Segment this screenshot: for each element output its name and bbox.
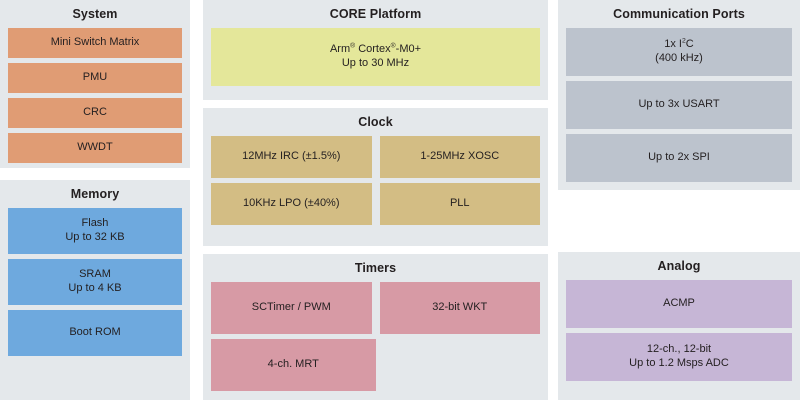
panel-memory: Memory Flash Up to 32 KB SRAM Up to 4 KB… — [0, 180, 190, 400]
i2c-suffix-text: C — [686, 38, 694, 50]
block-label: 10KHz LPO (±40%) — [243, 197, 340, 211]
i2c-prefix-text: 1x I — [664, 38, 682, 50]
block-label: PLL — [450, 197, 470, 211]
block-label: Flash Up to 32 KB — [65, 217, 124, 245]
block-label-line2: Up to 30 MHz — [342, 57, 409, 69]
block-sctimer-pwm[interactable]: SCTimer / PWM — [211, 282, 372, 334]
block-label: 1-25MHz XOSC — [420, 150, 499, 164]
block-crc[interactable]: CRC — [8, 98, 182, 128]
panel-title-memory: Memory — [0, 180, 190, 208]
block-label: 32-bit WKT — [432, 301, 487, 315]
block-label-line1: 12-ch., 12-bit — [647, 343, 711, 355]
block-label: SRAM Up to 4 KB — [68, 268, 121, 296]
panel-title-analog: Analog — [558, 252, 800, 280]
clock-row-1: 12MHz IRC (±1.5%) 1-25MHz XOSC — [211, 136, 540, 178]
panel-title-core-platform: CORE Platform — [203, 0, 548, 28]
panel-core-platform: CORE Platform Arm® Cortex®-M0+ Up to 30 … — [203, 0, 548, 100]
block-label: CRC — [83, 106, 107, 120]
block-label-line1: Flash — [82, 217, 109, 229]
panel-body-communication-ports: 1x I2C (400 kHz) Up to 3x USART Up to 2x… — [558, 28, 800, 190]
block-label: Up to 2x SPI — [648, 151, 710, 165]
block-label: PMU — [83, 71, 107, 85]
block-label-line2: Up to 32 KB — [65, 231, 124, 243]
panel-body-analog: ACMP 12-ch., 12-bit Up to 1.2 Msps ADC — [558, 280, 800, 389]
panel-communication-ports: Communication Ports 1x I2C (400 kHz) Up … — [558, 0, 800, 190]
panel-body-core-platform: Arm® Cortex®-M0+ Up to 30 MHz — [203, 28, 548, 94]
block-label: SCTimer / PWM — [252, 301, 331, 315]
panel-body-clock: 12MHz IRC (±1.5%) 1-25MHz XOSC 10KHz LPO… — [203, 136, 548, 233]
block-label: 1x I2C (400 kHz) — [655, 38, 703, 66]
block-diagram: System Mini Switch Matrix PMU CRC WWDT M… — [0, 0, 800, 400]
block-boot-rom[interactable]: Boot ROM — [8, 310, 182, 356]
block-label-line2: Up to 4 KB — [68, 282, 121, 294]
timers-row-2: 4-ch. MRT — [211, 339, 540, 391]
block-usart[interactable]: Up to 3x USART — [566, 81, 792, 129]
block-12mhz-irc[interactable]: 12MHz IRC (±1.5%) — [211, 136, 372, 178]
block-adc[interactable]: 12-ch., 12-bit Up to 1.2 Msps ADC — [566, 333, 792, 381]
core-m0plus-text: -M0+ — [396, 43, 421, 55]
panel-system: System Mini Switch Matrix PMU CRC WWDT — [0, 0, 190, 168]
block-label-line2: Up to 1.2 Msps ADC — [629, 357, 729, 369]
panel-body-memory: Flash Up to 32 KB SRAM Up to 4 KB Boot R… — [0, 208, 190, 364]
panel-clock: Clock 12MHz IRC (±1.5%) 1-25MHz XOSC 10K… — [203, 108, 548, 246]
block-4ch-mrt[interactable]: 4-ch. MRT — [211, 339, 376, 391]
block-label-line1: 1x I2C — [664, 38, 693, 50]
block-label-line2: (400 kHz) — [655, 52, 703, 64]
block-wwdt[interactable]: WWDT — [8, 133, 182, 163]
block-mini-switch-matrix[interactable]: Mini Switch Matrix — [8, 28, 182, 58]
block-label-line1: SRAM — [79, 268, 111, 280]
block-pll[interactable]: PLL — [380, 183, 541, 225]
clock-row-2: 10KHz LPO (±40%) PLL — [211, 183, 540, 225]
block-label: Up to 3x USART — [638, 98, 719, 112]
block-label: 4-ch. MRT — [268, 358, 319, 372]
timers-row-1: SCTimer / PWM 32-bit WKT — [211, 282, 540, 334]
block-spi[interactable]: Up to 2x SPI — [566, 134, 792, 182]
column-right: Communication Ports 1x I2C (400 kHz) Up … — [558, 0, 800, 400]
block-label: 12-ch., 12-bit Up to 1.2 Msps ADC — [629, 343, 729, 371]
timers-empty-slot — [384, 339, 541, 391]
panel-body-system: Mini Switch Matrix PMU CRC WWDT — [0, 28, 190, 171]
block-flash[interactable]: Flash Up to 32 KB — [8, 208, 182, 254]
core-cortex-text: Cortex — [355, 43, 390, 55]
panel-title-communication-ports: Communication Ports — [558, 0, 800, 28]
block-arm-cortex-m0plus[interactable]: Arm® Cortex®-M0+ Up to 30 MHz — [211, 28, 540, 86]
block-pmu[interactable]: PMU — [8, 63, 182, 93]
block-label: ACMP — [663, 297, 695, 311]
block-label-line1: Arm® Cortex®-M0+ — [330, 43, 421, 55]
column-middle: CORE Platform Arm® Cortex®-M0+ Up to 30 … — [203, 0, 548, 400]
panel-title-clock: Clock — [203, 108, 548, 136]
panel-analog: Analog ACMP 12-ch., 12-bit Up to 1.2 Msp… — [558, 252, 800, 400]
block-label: Mini Switch Matrix — [51, 36, 140, 50]
panel-timers: Timers SCTimer / PWM 32-bit WKT 4-ch. MR… — [203, 254, 548, 400]
panel-body-timers: SCTimer / PWM 32-bit WKT 4-ch. MRT — [203, 282, 548, 399]
panel-title-timers: Timers — [203, 254, 548, 282]
block-i2c[interactable]: 1x I2C (400 kHz) — [566, 28, 792, 76]
block-label: WWDT — [77, 141, 112, 155]
block-sram[interactable]: SRAM Up to 4 KB — [8, 259, 182, 305]
block-acmp[interactable]: ACMP — [566, 280, 792, 328]
block-xosc[interactable]: 1-25MHz XOSC — [380, 136, 541, 178]
block-label: Boot ROM — [69, 326, 120, 340]
block-label: 12MHz IRC (±1.5%) — [242, 150, 340, 164]
column-left: System Mini Switch Matrix PMU CRC WWDT M… — [0, 0, 190, 400]
block-label: Arm® Cortex®-M0+ Up to 30 MHz — [330, 43, 421, 71]
core-arm-text: Arm — [330, 43, 350, 55]
block-32bit-wkt[interactable]: 32-bit WKT — [380, 282, 541, 334]
block-10khz-lpo[interactable]: 10KHz LPO (±40%) — [211, 183, 372, 225]
panel-title-system: System — [0, 0, 190, 28]
